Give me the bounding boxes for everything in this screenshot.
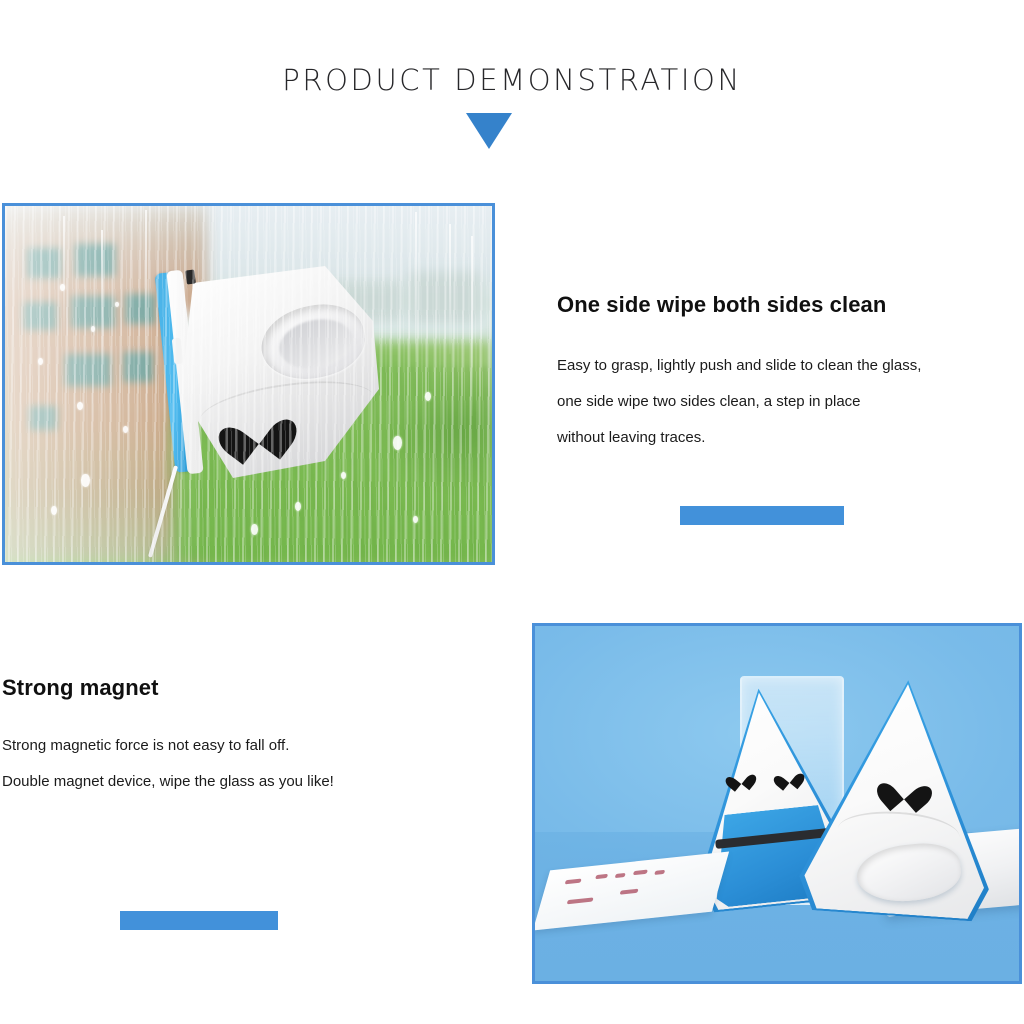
accent-bar-strong-magnet: [120, 911, 278, 930]
photo-window-cleaner-on-glass: [2, 203, 495, 565]
water-drip: [415, 212, 417, 362]
water-drip: [63, 216, 65, 336]
water-droplet: [81, 474, 90, 487]
card-mark: [620, 889, 639, 895]
water-droplet: [91, 326, 95, 332]
water-droplet: [251, 524, 258, 535]
water-streaks: [5, 206, 492, 562]
photo-double-magnet-set: [532, 623, 1022, 984]
magnet-unit-front: [802, 678, 998, 920]
body-line: one side wipe two sides clean, a step in…: [557, 384, 1017, 420]
section-heading-one-side-wipe: One side wipe both sides clean: [557, 292, 886, 318]
photo-double-magnet-set-scene: [535, 626, 1019, 981]
card-mark: [654, 870, 665, 875]
heart-cutout-icon: [778, 767, 800, 788]
water-droplet: [60, 284, 65, 291]
water-droplet: [393, 436, 402, 450]
accent-bar-one-side-wipe: [680, 506, 844, 525]
water-droplet: [295, 502, 301, 511]
card-mark: [615, 873, 626, 878]
triangle-down-icon: [466, 113, 512, 149]
card-mark: [565, 879, 582, 885]
water-droplet: [51, 506, 57, 515]
card-mark: [595, 874, 608, 879]
heart-cutout-icon: [730, 768, 752, 789]
water-drip: [145, 210, 147, 410]
water-droplet: [77, 402, 83, 410]
section-body-one-side-wipe: Easy to grasp, lightly push and slide to…: [557, 348, 1017, 456]
card-mark: [567, 897, 594, 904]
section-body-strong-magnet: Strong magnetic force is not easy to fal…: [2, 728, 472, 800]
water-droplet: [123, 426, 128, 433]
water-drip: [449, 224, 451, 354]
body-line: Strong magnetic force is not easy to fal…: [2, 728, 472, 764]
water-droplet: [341, 472, 346, 479]
water-droplet: [425, 392, 431, 401]
water-drip: [471, 236, 473, 416]
body-line: Double magnet device, wipe the glass as …: [2, 764, 472, 800]
page-title: PRODUCT DEMONSTRATION: [0, 63, 1024, 97]
section-heading-strong-magnet: Strong magnet: [2, 675, 159, 701]
body-line: without leaving traces.: [557, 420, 1017, 456]
water-droplet: [38, 358, 43, 365]
heart-cutout-icon: [886, 771, 924, 807]
water-droplet: [413, 516, 418, 523]
card-mark: [633, 870, 648, 876]
body-line: Easy to grasp, lightly push and slide to…: [557, 348, 1017, 384]
water-droplet: [115, 302, 119, 307]
photo-window-cleaner-on-glass-scene: [5, 206, 492, 562]
header-block: PRODUCT DEMONSTRATION: [0, 0, 1024, 180]
water-drip: [101, 230, 103, 390]
